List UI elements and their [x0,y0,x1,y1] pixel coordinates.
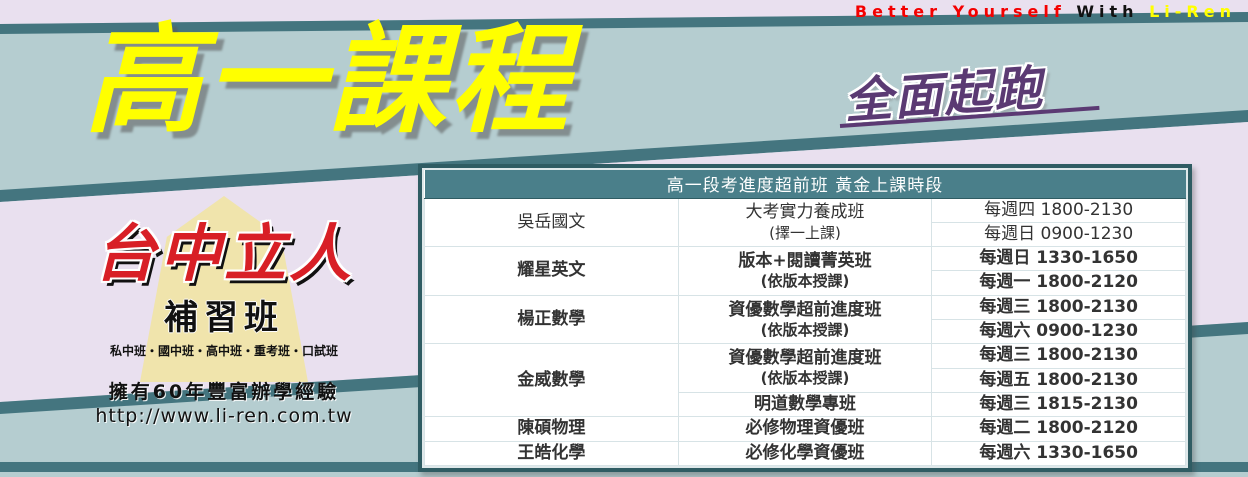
logo-subname: 補習班 [44,290,404,339]
course-note: (依版本授課) [679,321,932,340]
page-title: 高一課程 [84,18,572,142]
course-name: 明道數學專班 [679,394,932,415]
cell-course: 大考實力養成班(擇一上課) [678,198,932,247]
cell-time: 每週三 1800-2130 [932,344,1186,368]
course-name: 資優數學超前進度班 [679,300,932,321]
logo-website-url[interactable]: http://www.li-ren.com.tw [44,405,404,427]
cell-teacher: 楊正數學 [425,295,679,344]
schedule-table-frame: 高一段考進度超前班 黃金上課時段 吳岳國文大考實力養成班(擇一上課)每週四 18… [418,164,1192,472]
course-note: (依版本授課) [679,369,932,388]
cell-course: 必修化學資優班 [678,441,932,465]
cell-course: 必修物理資優班 [678,417,932,441]
course-note: (依版本授課) [679,272,932,291]
course-name: 版本+閱讀菁英班 [679,251,932,272]
table-row: 王皓化學必修化學資優班每週六 1330-1650 [425,441,1186,465]
cell-time: 每週六 1330-1650 [932,441,1186,465]
cell-teacher: 吳岳國文 [425,198,679,247]
logo-experience: 擁有60年豐富辦學經驗 [44,377,404,404]
course-name: 必修物理資優班 [679,418,932,439]
table-row: 楊正數學資優數學超前進度班(依版本授課)每週三 1800-2130 [425,295,1186,319]
table-row: 金威數學資優數學超前進度班(依版本授課)每週三 1800-2130 [425,344,1186,368]
cell-time: 每週三 1800-2130 [932,295,1186,319]
cell-teacher: 陳碩物理 [425,417,679,441]
cell-time: 每週四 1800-2130 [932,198,1186,222]
banner-tagline: Better Yourself With Li-Ren [0,2,1248,21]
schedule-table-body: 吳岳國文大考實力養成班(擇一上課)每週四 1800-2130每週日 0900-1… [425,198,1186,466]
table-row: 耀星英文版本+閱讀菁英班(依版本授課)每週日 1330-1650 [425,247,1186,271]
cell-course: 明道數學專班 [678,393,932,417]
cell-teacher: 金威數學 [425,344,679,417]
table-header-row: 高一段考進度超前班 黃金上課時段 [425,170,1186,198]
brand-logo: 台中立人 補習班 私中班・國中班・高中班・重考班・口試班 擁有60年豐富辦學經驗… [44,196,404,416]
logo-name: 台中立人 [44,196,404,288]
tagline-yellow-text: Li-Ren [1149,2,1236,21]
cell-course: 版本+閱讀菁英班(依版本授課) [678,247,932,296]
cell-time: 每週日 0900-1230 [932,222,1186,246]
cell-time: 每週二 1800-2120 [932,417,1186,441]
bg-foot [0,472,1248,477]
cell-course: 資優數學超前進度班(依版本授課) [678,344,932,393]
course-name: 必修化學資優班 [679,443,932,464]
cell-time: 每週日 1330-1650 [932,247,1186,271]
schedule-table: 高一段考進度超前班 黃金上課時段 吳岳國文大考實力養成班(擇一上課)每週四 18… [424,170,1186,466]
schedule-header-title: 高一段考進度超前班 黃金上課時段 [425,170,1186,198]
logo-class-list: 私中班・國中班・高中班・重考班・口試班 [44,342,404,359]
course-name: 大考實力養成班 [679,202,932,223]
table-row: 陳碩物理必修物理資優班每週二 1800-2120 [425,417,1186,441]
cell-course: 資優數學超前進度班(依版本授課) [678,295,932,344]
cell-time: 每週一 1800-2120 [932,271,1186,295]
cell-teacher: 王皓化學 [425,441,679,465]
tagline-black-text: With [1076,2,1138,21]
cell-time: 每週五 1800-2130 [932,368,1186,392]
table-row: 吳岳國文大考實力養成班(擇一上課)每週四 1800-2130 [425,198,1186,222]
cell-teacher: 耀星英文 [425,247,679,296]
cell-time: 每週六 0900-1230 [932,320,1186,344]
course-name: 資優數學超前進度班 [679,348,932,369]
course-note: (擇一上課) [679,224,932,243]
tagline-red-text: Better Yourself [855,2,1066,21]
cell-time: 每週三 1815-2130 [932,393,1186,417]
